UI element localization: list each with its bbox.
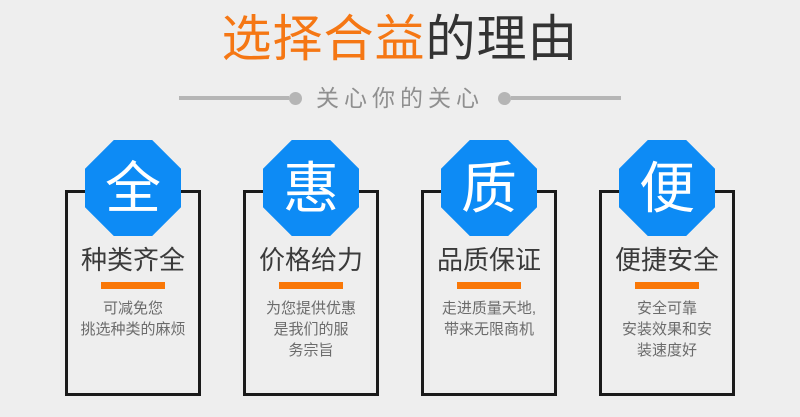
subtitle-rule-left xyxy=(179,96,289,100)
card-description: 可减免您 挑选种类的麻烦 xyxy=(65,298,201,340)
card-description-line: 带来无限商机 xyxy=(421,319,557,340)
feature-cards: 全 种类齐全 可减免您 挑选种类的麻烦 惠 价格给力 为您提供优惠 是我们的服 … xyxy=(0,140,800,410)
card-description-line: 走进质量天地, xyxy=(421,298,557,319)
page-title: 选择合益的理由 xyxy=(0,10,800,68)
card-description-line: 安装效果和安 xyxy=(599,319,735,340)
octagon-badge-label: 全 xyxy=(105,161,161,217)
card-title: 品质保证 xyxy=(421,244,557,276)
card-description: 安全可靠 安装效果和安 装速度好 xyxy=(599,298,735,361)
feature-card-3: 质 品质保证 走进质量天地, 带来无限商机 xyxy=(421,140,557,398)
feature-card-4: 便 便捷安全 安全可靠 安装效果和安 装速度好 xyxy=(599,140,735,398)
card-description-line: 挑选种类的麻烦 xyxy=(65,319,201,340)
page-header: 选择合益的理由 关心你的关心 xyxy=(0,0,800,125)
card-divider xyxy=(101,282,165,289)
subtitle-dot-right-icon xyxy=(498,92,511,105)
card-divider xyxy=(635,282,699,289)
card-title: 价格给力 xyxy=(243,244,379,276)
card-description-line: 为您提供优惠 xyxy=(243,298,379,319)
card-description: 走进质量天地, 带来无限商机 xyxy=(421,298,557,340)
octagon-badge-label: 惠 xyxy=(283,161,339,217)
octagon-badge-icon: 便 xyxy=(619,140,715,236)
page-title-accent: 选择合益 xyxy=(222,11,426,67)
card-divider xyxy=(279,282,343,289)
card-description: 为您提供优惠 是我们的服 务宗旨 xyxy=(243,298,379,361)
card-title: 便捷安全 xyxy=(599,244,735,276)
card-description-line: 务宗旨 xyxy=(243,340,379,361)
octagon-badge-label: 便 xyxy=(639,161,695,217)
subtitle-row: 关心你的关心 xyxy=(0,78,800,118)
page-title-rest: 的理由 xyxy=(426,11,579,67)
octagon-badge-label: 质 xyxy=(461,161,517,217)
feature-card-2: 惠 价格给力 为您提供优惠 是我们的服 务宗旨 xyxy=(243,140,379,398)
card-title: 种类齐全 xyxy=(65,244,201,276)
page-subtitle: 关心你的关心 xyxy=(302,83,498,113)
card-description-line: 可减免您 xyxy=(65,298,201,319)
card-description-line: 安全可靠 xyxy=(599,298,735,319)
card-divider xyxy=(457,282,521,289)
subtitle-dot-left-icon xyxy=(289,92,302,105)
card-description-line: 是我们的服 xyxy=(243,319,379,340)
card-description-line: 装速度好 xyxy=(599,340,735,361)
feature-card-1: 全 种类齐全 可减免您 挑选种类的麻烦 xyxy=(65,140,201,398)
subtitle-rule-right xyxy=(511,96,621,100)
